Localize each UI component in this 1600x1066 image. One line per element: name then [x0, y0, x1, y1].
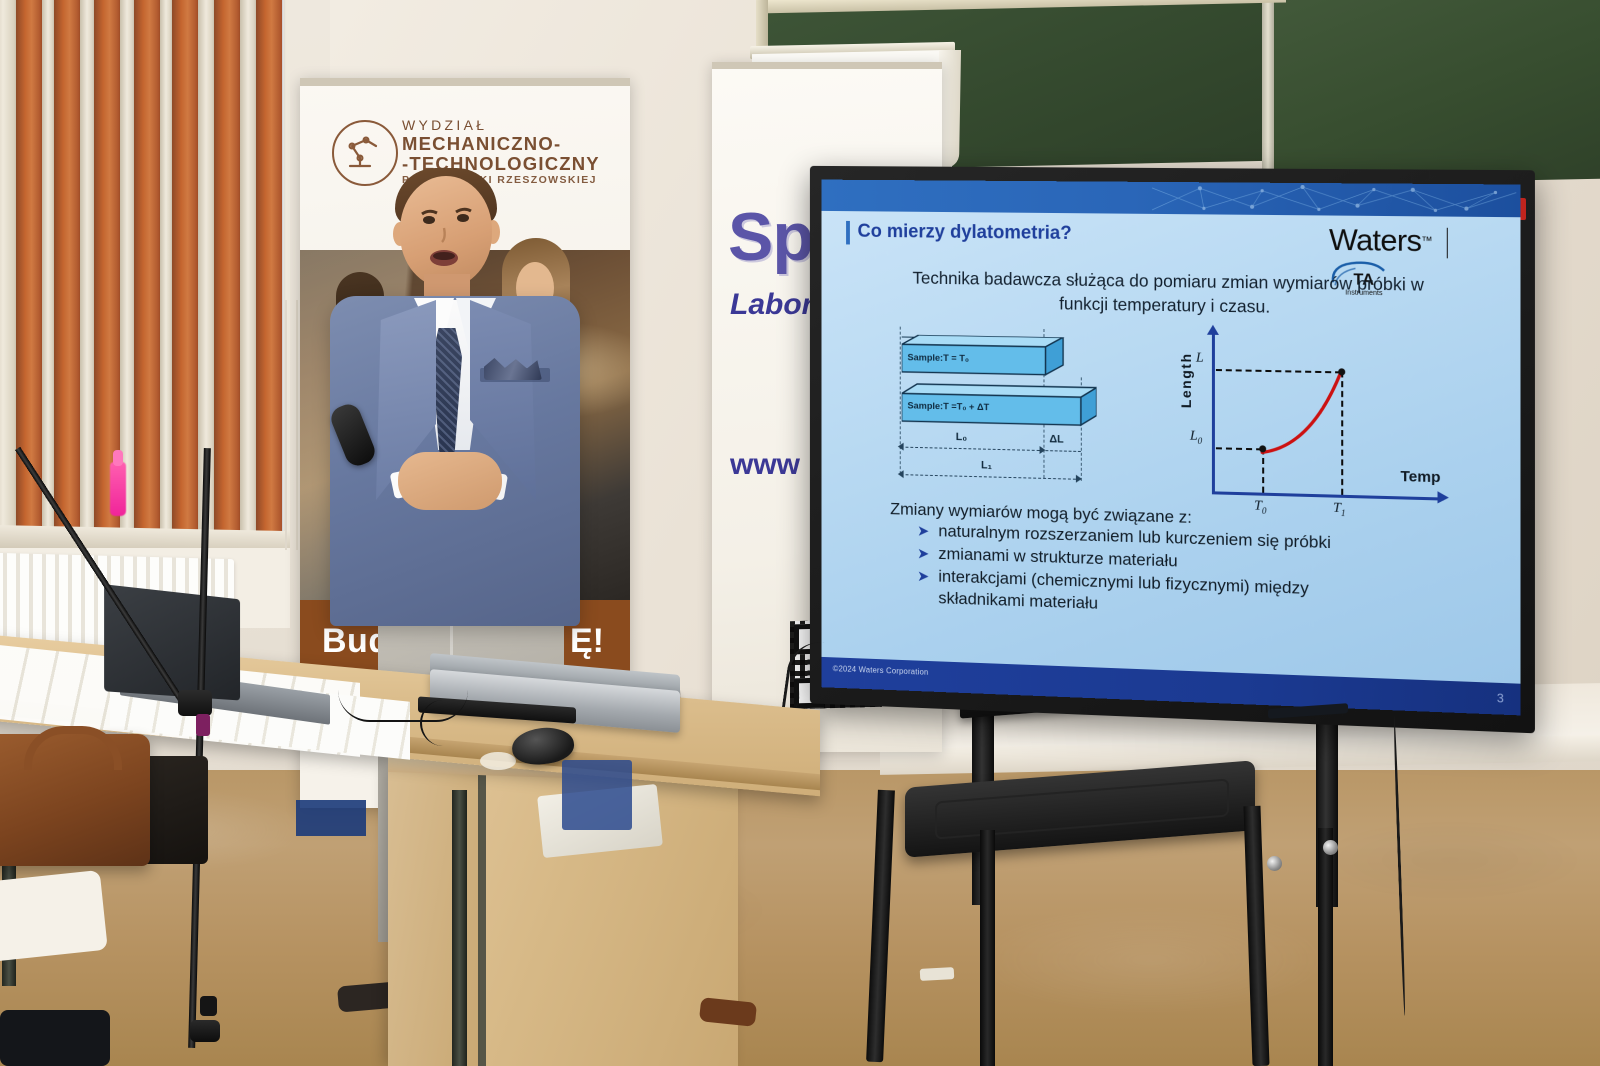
blind-slat — [214, 0, 240, 535]
microphone-adjust-knob[interactable] — [196, 714, 210, 736]
table-leg-middle — [452, 790, 467, 1066]
dim-arrow-icon — [898, 443, 904, 451]
spektro-url: www — [730, 448, 800, 482]
sample-box-hot-label: Sample:T =T₀ + ΔT — [907, 401, 989, 414]
bullet-marker-icon: ➤ — [917, 522, 929, 540]
blue-folder — [562, 760, 632, 830]
brand-divider — [1447, 228, 1449, 259]
length-vs-temp-chart: Length Temp L L0 T0 T1 — [1170, 332, 1454, 525]
chart-expansion-curve — [1256, 364, 1353, 461]
dim-label-L0: L₀ — [956, 431, 967, 443]
blind-slat — [80, 0, 94, 535]
blind-slat — [42, 0, 54, 535]
dim-arrow-icon — [1040, 446, 1046, 454]
chart-ytick-L0: L0 — [1190, 429, 1202, 446]
cabinet-divider — [478, 772, 486, 1066]
chart-xtick-T1: T1 — [1333, 501, 1346, 518]
blind-slat — [172, 0, 198, 535]
chart-y-axis — [1212, 333, 1215, 494]
bullet-marker-icon: ➤ — [917, 567, 929, 585]
sample-box-cold-label: Sample:T = T₀ — [907, 352, 969, 364]
presenter-face — [400, 176, 492, 288]
blind-slat — [134, 0, 160, 535]
chalkboard-divider — [1262, 0, 1274, 186]
dim-line-dL — [1045, 450, 1080, 452]
spray-bottle-cap — [113, 450, 123, 466]
stand-leg-back-right — [1318, 828, 1333, 1066]
chart-xtick-T0: T0 — [1254, 498, 1266, 515]
chart-x-axis-label: Temp — [1400, 468, 1440, 486]
chalkboard-right-panel — [1272, 0, 1600, 186]
slide-network-graphic — [1142, 182, 1520, 217]
banner-top-rail — [300, 78, 630, 86]
stand-bolt — [1323, 840, 1338, 855]
floor-small-item — [920, 967, 955, 981]
blind-slat — [160, 0, 172, 535]
pink-spray-bottle — [110, 462, 126, 516]
banner-line-2: MECHANICZNO- — [402, 134, 622, 155]
floor-texture — [0, 770, 1600, 1066]
microphone-stand-base — [190, 1020, 220, 1042]
blind-cord — [285, 300, 287, 550]
stand-leg-back-left — [980, 830, 995, 1066]
dim-label-L1: L₁ — [981, 459, 992, 471]
blind-slat — [0, 0, 16, 535]
blind-slat — [54, 0, 80, 535]
slide-lead-paragraph: Technika badawcza służąca do pomiaru zmi… — [890, 267, 1448, 322]
slide-title: Co mierzy dylatometria? — [858, 221, 1072, 245]
dim-arrow-icon — [1076, 475, 1082, 483]
banner-base-foot — [296, 800, 366, 836]
chart-ytick-L: L — [1196, 351, 1204, 367]
laptop-cable — [420, 700, 532, 746]
sample-expansion-diagram: Sample:T = T₀ Sample:T =T₀ + ΔT L₀ ΔL L₁ — [896, 332, 1160, 501]
blind-cord — [296, 300, 298, 550]
blind-slat — [256, 0, 282, 535]
guide-line-left — [900, 327, 901, 474]
banner-line-1: WYDZIAŁ — [402, 118, 622, 134]
chart-marker-T1L — [1338, 368, 1345, 375]
floor-object — [0, 1010, 110, 1066]
chart-y-axis-label: Length — [1178, 352, 1194, 408]
bullet-marker-icon: ➤ — [917, 544, 929, 562]
white-cushion — [0, 870, 108, 962]
x-axis-arrow-icon — [1438, 491, 1449, 504]
dim-line-L0 — [901, 447, 1045, 452]
title-accent-bar — [846, 221, 850, 245]
waters-wordmark: Waters — [1329, 224, 1421, 258]
dim-arrow-icon — [898, 470, 904, 478]
stand-bolt — [1267, 856, 1282, 871]
chart-marker-T0L0 — [1259, 445, 1266, 452]
y-axis-arrow-icon — [1207, 325, 1219, 335]
dim-label-dL: ΔL — [1049, 433, 1063, 445]
small-white-object — [480, 752, 516, 770]
trademark-icon: ™ — [1421, 235, 1432, 247]
presentation-photo-scene: Bud Ę! WYDZIAŁ MECHANICZNO- -TECHNOLOGIC… — [0, 0, 1600, 1066]
banner-footer-text-end: Ę! — [570, 622, 604, 661]
slide-page-number: 3 — [1497, 691, 1504, 706]
blind-slat — [240, 0, 256, 535]
chart-x-axis — [1212, 491, 1444, 500]
microphone-height-knob[interactable] — [200, 996, 217, 1016]
banner2-top-rail — [712, 62, 942, 69]
dim-line-L1 — [901, 474, 1081, 480]
wall-display-screen[interactable]: Waters™ TA Instruments Co mierzy dylatom… — [821, 180, 1520, 716]
presenter-clasped-hands — [398, 452, 502, 510]
robot-arm-logo-glyph — [344, 134, 384, 170]
microphone-boom-clamp[interactable] — [178, 690, 212, 716]
